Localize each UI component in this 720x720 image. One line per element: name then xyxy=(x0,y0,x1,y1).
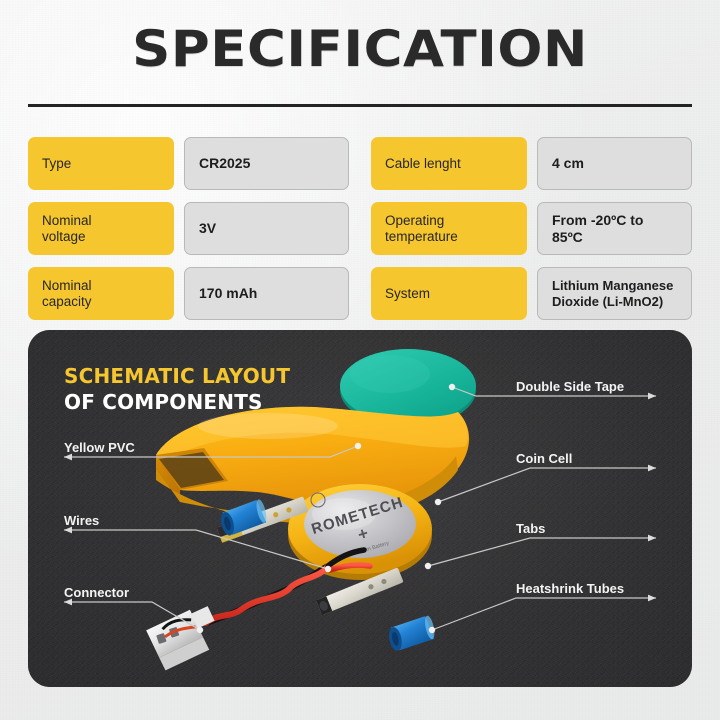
schematic-heading-line1: SCHEMATIC LAYOUT xyxy=(64,363,290,389)
spec-label-system: System xyxy=(371,267,527,320)
leader-dot-tape xyxy=(449,384,455,390)
spec-value-nominal-capacity: 170 mAh xyxy=(184,267,349,320)
spec-value-operating-temperature: From -20ºC to 85ºC xyxy=(537,202,692,255)
spec-row-nominal-capacity: Nominalcapacity 170 mAh xyxy=(28,267,349,320)
leader-arrow-right-2 xyxy=(648,465,656,472)
spec-row-type: Type CR2025 xyxy=(28,137,349,190)
leader-arrow-right-3 xyxy=(648,535,656,542)
schematic-heading: SCHEMATIC LAYOUT OF COMPONENTS xyxy=(64,363,290,416)
callout-label-coin-cell: Coin Cell xyxy=(516,451,572,466)
spec-label-type: Type xyxy=(28,137,174,190)
spec-label-cable-length: Cable lenght xyxy=(371,137,527,190)
callout-label-heatshrink-tubes: Heatshrink Tubes xyxy=(516,581,624,596)
spec-label-nominal-capacity: Nominalcapacity xyxy=(28,267,174,320)
leader-dot-connector xyxy=(197,627,203,633)
spec-value-system: Lithium ManganeseDioxide (Li-MnO2) xyxy=(537,267,692,320)
spec-row-system: System Lithium ManganeseDioxide (Li-MnO2… xyxy=(371,267,692,320)
callout-label-tabs: Tabs xyxy=(516,521,545,536)
leader-arrow-right-4 xyxy=(648,595,656,602)
spec-label-operating-temperature: Operatingtemperature xyxy=(371,202,527,255)
leader-dot-wires xyxy=(325,566,331,572)
leader-dot-heatshrink xyxy=(429,627,435,633)
leader-arrow-right-1 xyxy=(648,393,656,400)
callout-label-wires: Wires xyxy=(64,513,99,528)
spec-row-nominal-voltage: Nominalvoltage 3V xyxy=(28,202,349,255)
spec-row-cable-length: Cable lenght 4 cm xyxy=(371,137,692,190)
callout-label-double-side-tape: Double Side Tape xyxy=(516,379,624,394)
spec-row-operating-temperature: Operatingtemperature From -20ºC to 85ºC xyxy=(371,202,692,255)
page-header: SPECIFICATION xyxy=(0,24,720,74)
schematic-heading-line2: OF COMPONENTS xyxy=(64,389,290,415)
spec-column-left: Type CR2025 Nominalvoltage 3V Nominalcap… xyxy=(28,137,349,320)
spec-value-nominal-voltage: 3V xyxy=(184,202,349,255)
header-divider xyxy=(28,104,692,107)
leader-dot-pvc xyxy=(355,443,361,449)
spec-column-right: Cable lenght 4 cm Operatingtemperature F… xyxy=(371,137,692,320)
schematic-panel: ROMETECH + 3v Lithium Battery xyxy=(28,330,692,687)
leader-dot-coin-cell xyxy=(435,499,441,505)
spec-value-cable-length: 4 cm xyxy=(537,137,692,190)
leader-dot-tabs xyxy=(425,563,431,569)
callout-label-connector: Connector xyxy=(64,585,129,600)
page-title: SPECIFICATION xyxy=(0,24,720,74)
specification-table: Type CR2025 Nominalvoltage 3V Nominalcap… xyxy=(28,137,692,320)
spec-label-nominal-voltage: Nominalvoltage xyxy=(28,202,174,255)
spec-value-type: CR2025 xyxy=(184,137,349,190)
callout-label-yellow-pvc: Yellow PVC xyxy=(64,440,135,455)
